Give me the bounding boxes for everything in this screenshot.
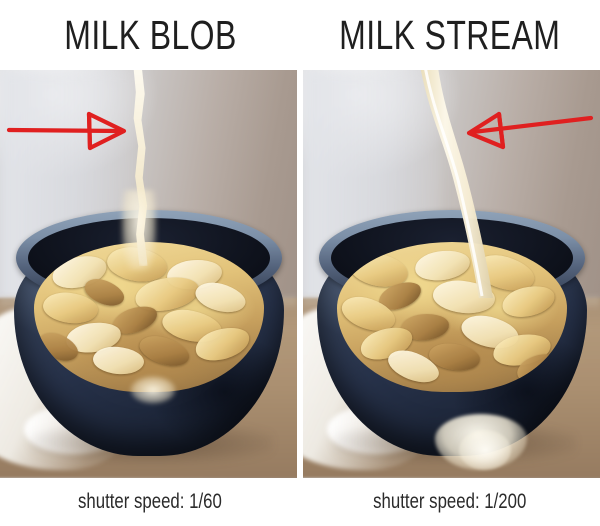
photo-right-milk-stream: [303, 70, 600, 478]
milk-splash-left: [130, 376, 176, 404]
photos-row: [0, 70, 600, 478]
captions-row: shutter speed: 1/60 shutter speed: 1/200: [0, 478, 600, 526]
panel-title-left: MILK BLOB: [64, 13, 236, 57]
panel-caption-right: shutter speed: 1/200: [373, 490, 526, 514]
title-cell-right: MILK STREAM: [300, 0, 600, 70]
titles-row: MILK BLOB MILK STREAM: [0, 0, 600, 70]
title-cell-left: MILK BLOB: [0, 0, 300, 70]
cereal-mound-right: [337, 242, 567, 392]
milk-pool-highlight-right: [459, 430, 511, 470]
milk-blob-blur-left: [122, 190, 156, 270]
panel-title-right: MILK STREAM: [339, 13, 560, 57]
milk-shutter-speed-infographic: MILK BLOB MILK STREAM: [0, 0, 600, 526]
caption-cell-left: shutter speed: 1/60: [0, 478, 300, 526]
caption-cell-right: shutter speed: 1/200: [300, 478, 600, 526]
panel-caption-left: shutter speed: 1/60: [78, 490, 222, 514]
bowl-right: [317, 200, 587, 468]
photo-left-milk-blob: [0, 70, 297, 478]
